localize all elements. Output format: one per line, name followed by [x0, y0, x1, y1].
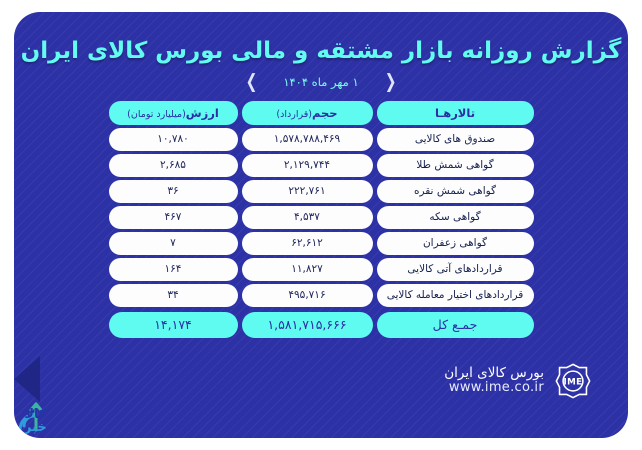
brand-text-block: بورس کالای ایران www.ime.co.ir	[444, 366, 544, 396]
table-row: قراردادهای اختیار معامله کالایی ۴۹۵,۷۱۶ …	[109, 284, 534, 307]
ime-logo-text: IME	[564, 378, 583, 388]
date-bar: ❮ ۱ مهر ماه ۱۴۰۴ ❯	[14, 75, 628, 89]
ime-logo-icon: IME	[554, 362, 592, 400]
report-date: ۱ مهر ماه ۱۴۰۴	[283, 75, 358, 89]
row-value: ۷	[109, 232, 238, 255]
row-label: گواهی سکه	[377, 206, 534, 229]
column-header-value: ارزش(میلیارد تومان)	[109, 101, 238, 125]
column-header-value-sub: (میلیارد تومان)	[127, 109, 186, 120]
footer: IME بورس کالای ایران www.ime.co.ir کالا …	[14, 350, 628, 438]
row-label: گواهی زعفران	[377, 232, 534, 255]
table-row: صندوق های کالایی ۱,۵۷۸,۷۸۸,۴۶۹ ۱۰,۷۸۰	[109, 128, 534, 151]
watermark-text: کالا خبر	[24, 408, 47, 434]
row-value: ۳۴	[109, 284, 238, 307]
column-header-halls: تالارهـا	[377, 101, 534, 125]
table-row: گواهی شمش طلا ۲,۱۲۹,۷۴۴ ۲,۶۸۵	[109, 154, 534, 177]
row-volume: ۱,۵۷۸,۷۸۸,۴۶۹	[242, 128, 373, 151]
column-header-volume-sub: (قرارداد)	[276, 109, 312, 120]
chevron-right-icon: ❮	[385, 73, 397, 92]
row-label: گواهی شمش طلا	[377, 154, 534, 177]
total-volume: ۱,۵۸۱,۷۱۵,۶۶۶	[242, 312, 373, 338]
table-total-row: جمـع کل ۱,۵۸۱,۷۱۵,۶۶۶ ۱۴,۱۷۴	[109, 312, 534, 338]
column-header-volume: حجم(قرارداد)	[242, 101, 373, 125]
row-label: قراردادهای اختیار معامله کالایی	[377, 284, 534, 307]
chevron-left-icon: ❯	[246, 73, 258, 92]
column-header-volume-label: حجم	[312, 106, 338, 120]
poster-card: گزارش روزانه بازار مشتقه و مالی بورس کال…	[14, 12, 628, 438]
row-volume: ۶۲,۶۱۲	[242, 232, 373, 255]
total-label: جمـع کل	[377, 312, 534, 338]
row-value: ۱۶۴	[109, 258, 238, 281]
row-label: گواهی شمش نقره	[377, 180, 534, 203]
row-value: ۳۶	[109, 180, 238, 203]
page-title: گزارش روزانه بازار مشتقه و مالی بورس کال…	[14, 38, 628, 64]
table-row: گواهی زعفران ۶۲,۶۱۲ ۷	[109, 232, 534, 255]
row-label: قراردادهای آتی کالایی	[377, 258, 534, 281]
column-header-halls-label: تالارهـا	[435, 106, 475, 120]
row-volume: ۴,۵۳۷	[242, 206, 373, 229]
brand-block: IME بورس کالای ایران www.ime.co.ir	[444, 362, 592, 400]
table-row: قراردادهای آتی کالایی ۱۱,۸۲۷ ۱۶۴	[109, 258, 534, 281]
row-label: صندوق های کالایی	[377, 128, 534, 151]
table-row: گواهی شمش نقره ۲۲۲,۷۶۱ ۳۶	[109, 180, 534, 203]
brand-name: بورس کالای ایران	[444, 366, 544, 382]
table-row: گواهی سکه ۴,۵۳۷ ۴۶۷	[109, 206, 534, 229]
row-value: ۴۶۷	[109, 206, 238, 229]
column-header-value-label: ارزش	[186, 106, 219, 120]
row-volume: ۱۱,۸۲۷	[242, 258, 373, 281]
row-value: ۱۰,۷۸۰	[109, 128, 238, 151]
brand-url[interactable]: www.ime.co.ir	[444, 381, 544, 396]
row-value: ۲,۶۸۵	[109, 154, 238, 177]
row-volume: ۴۹۵,۷۱۶	[242, 284, 373, 307]
row-volume: ۲,۱۲۹,۷۴۴	[242, 154, 373, 177]
total-value: ۱۴,۱۷۴	[109, 312, 238, 338]
row-volume: ۲۲۲,۷۶۱	[242, 180, 373, 203]
report-table: تالارهـا حجم(قرارداد) ارزش(میلیارد تومان…	[109, 101, 534, 338]
watermark-line-2: خبر	[24, 421, 47, 434]
table-header-row: تالارهـا حجم(قرارداد) ارزش(میلیارد تومان…	[109, 101, 534, 125]
